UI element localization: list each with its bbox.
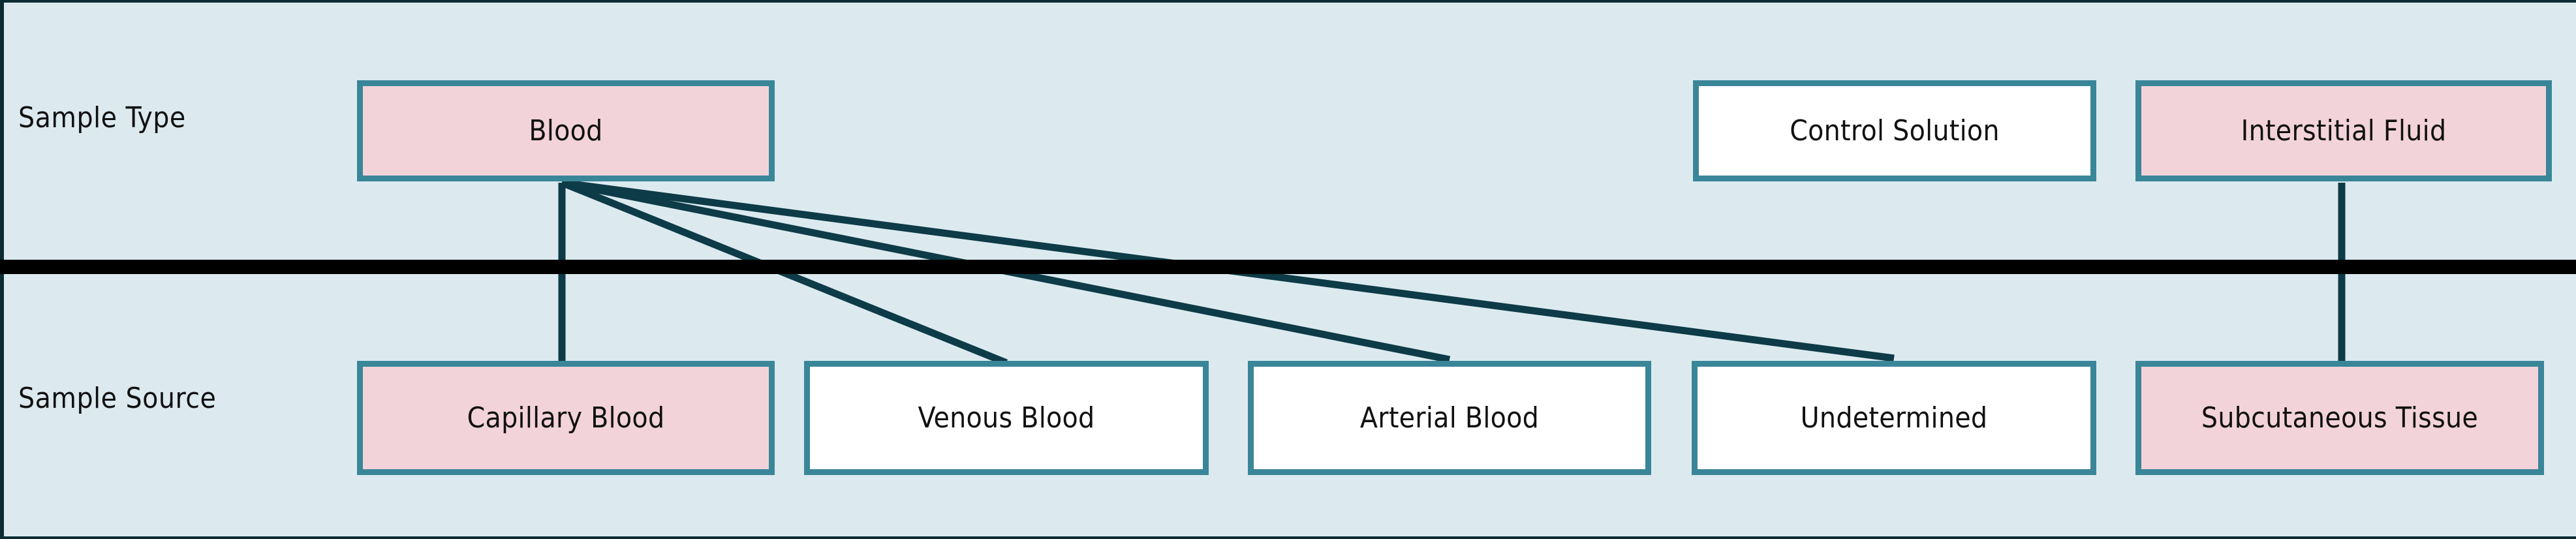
node-capillary-blood[interactable]: Capillary Blood bbox=[357, 361, 775, 475]
node-label-arterial-blood: Arterial Blood bbox=[1360, 404, 1539, 433]
diagram-canvas: Sample Type Sample Source BloodControl S… bbox=[0, 0, 2576, 539]
node-undetermined[interactable]: Undetermined bbox=[1692, 361, 2096, 475]
lane-label-sample-type: Sample Type bbox=[18, 101, 186, 134]
node-label-blood: Blood bbox=[529, 117, 602, 146]
node-interstitial-fluid[interactable]: Interstitial Fluid bbox=[2135, 80, 2552, 181]
node-label-capillary-blood: Capillary Blood bbox=[467, 404, 665, 433]
node-label-undetermined: Undetermined bbox=[1801, 404, 1988, 433]
swimlane-divider bbox=[0, 260, 2576, 274]
node-blood[interactable]: Blood bbox=[357, 80, 775, 181]
node-control-solution[interactable]: Control Solution bbox=[1693, 80, 2096, 181]
node-label-control-solution: Control Solution bbox=[1790, 117, 2000, 146]
frame-bottom-edge bbox=[0, 536, 2576, 539]
node-arterial-blood[interactable]: Arterial Blood bbox=[1248, 361, 1651, 475]
node-venous-blood[interactable]: Venous Blood bbox=[804, 361, 1209, 475]
lane-label-sample-source: Sample Source bbox=[18, 382, 216, 415]
node-label-venous-blood: Venous Blood bbox=[918, 404, 1095, 433]
node-label-subcutaneous-tissue: Subcutaneous Tissue bbox=[2201, 404, 2478, 433]
node-label-interstitial-fluid: Interstitial Fluid bbox=[2241, 117, 2447, 146]
frame-top-edge bbox=[0, 0, 2576, 3]
node-subcutaneous-tissue[interactable]: Subcutaneous Tissue bbox=[2135, 361, 2544, 475]
